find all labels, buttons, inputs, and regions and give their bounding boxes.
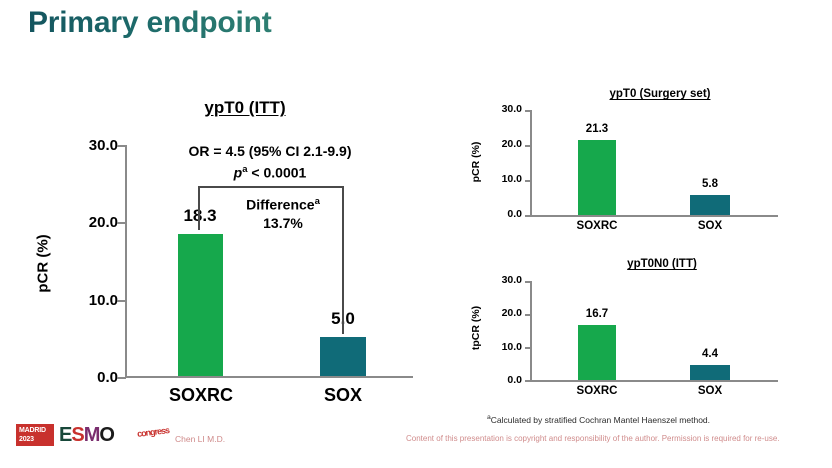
chart-top-right-category-sox: SOX (673, 220, 747, 232)
chart-top-right-value-sox: 5.8 (673, 178, 747, 190)
chart-bottom-right-value-soxrc: 16.7 (560, 308, 634, 320)
slide-canvas: Primary endpoint ypT0 (ITT) pCR (%) 30.0… (0, 0, 832, 468)
chart-top-right-tick-10 (525, 180, 531, 182)
difference-bracket-top (198, 186, 344, 188)
chart-top-right-bar-sox (690, 195, 730, 215)
chart-bottom-right-ytick-20: 20.0 (480, 307, 522, 319)
main-chart-x-axis (125, 376, 413, 378)
chart-bottom-right-x-axis (530, 380, 778, 382)
chart-top-right-bar-soxrc (578, 140, 616, 215)
esmo-letter-e: E (59, 424, 71, 446)
main-chart-tick-30 (117, 145, 126, 147)
chart-bottom-right-category-soxrc: SOXRC (560, 385, 634, 397)
chart-bottom-right-bar-sox (690, 365, 730, 380)
chart-bottom-right-y-axis (530, 281, 532, 381)
esmo-wordmark: ESMOcongress (59, 424, 114, 446)
main-chart-tick-0 (117, 377, 126, 379)
esmo-letter-o: O (99, 424, 114, 446)
main-chart-tick-10 (117, 300, 126, 302)
presenter-name: Chen LI M.D. (175, 434, 225, 444)
main-chart-ytick-10: 10.0 (58, 292, 118, 309)
chart-top-right-x-axis (530, 215, 778, 217)
chart-bottom-right-bar-soxrc (578, 325, 616, 380)
difference-bracket-left-arm (198, 186, 200, 230)
page-title: Primary endpoint (28, 6, 272, 40)
badge-line-year: 2023 (19, 435, 54, 444)
copyright-notice: Content of this presentation is copyrigh… (406, 434, 780, 443)
difference-superscript: a (315, 196, 320, 207)
congress-wordmark: congress (136, 419, 170, 445)
chart-top-right-tick-0 (525, 215, 531, 217)
footnote: aCalculated by stratified Cochran Mantel… (487, 414, 710, 425)
esmo-letter-m: M (84, 424, 100, 446)
main-chart-title: ypT0 (ITT) (175, 98, 315, 118)
chart-top-right-ytick-0: 0.0 (480, 208, 522, 220)
badge-line-city: MADRID (19, 426, 54, 435)
main-chart-ytick-30: 30.0 (58, 137, 118, 154)
main-chart-or-text: OR = 4.5 (95% CI 2.1-9.9) (150, 143, 390, 159)
main-chart-y-axis-title: pCR (%) (35, 219, 52, 309)
chart-bottom-right-value-sox: 4.4 (673, 348, 747, 360)
chart-top-right-ytick-10: 10.0 (480, 173, 522, 185)
chart-bottom-right-ytick-30: 30.0 (480, 274, 522, 286)
chart-bottom-right-ytick-10: 10.0 (480, 341, 522, 353)
chart-top-right-value-soxrc: 21.3 (560, 123, 634, 135)
main-chart-bar-soxrc (178, 234, 223, 376)
madrid-2023-badge: MADRID 2023 (16, 424, 54, 446)
main-chart-pvalue-text: pa < 0.0001 (150, 164, 390, 181)
chart-top-right-category-soxrc: SOXRC (560, 220, 634, 232)
chart-bottom-right-tick-0 (525, 380, 531, 382)
chart-bottom-right-ytick-0: 0.0 (480, 374, 522, 386)
main-chart-bar-sox (320, 337, 366, 376)
p-symbol: p (234, 165, 243, 181)
chart-bottom-right-tick-30 (525, 281, 531, 283)
chart-bottom-right-title: ypT0N0 (ITT) (562, 258, 762, 270)
main-chart-ytick-20: 20.0 (58, 214, 118, 231)
difference-value: 13.7% (218, 215, 348, 231)
main-chart-category-sox: SOX (300, 385, 386, 406)
esmo-letter-s: S (71, 424, 83, 446)
chart-top-right-y-axis (530, 110, 532, 216)
chart-top-right-title: ypT0 (Surgery set) (560, 88, 760, 100)
main-chart-category-soxrc: SOXRC (155, 385, 247, 406)
chart-bottom-right-category-sox: SOX (673, 385, 747, 397)
difference-label-text: Difference (246, 197, 314, 213)
footnote-text: Calculated by stratified Cochran Mantel … (491, 415, 710, 425)
difference-label: Differencea (218, 196, 348, 213)
esmo-congress-logo: MADRID 2023 ESMOcongress (16, 424, 114, 450)
p-value-rest: < 0.0001 (248, 165, 307, 181)
chart-bottom-right-tick-20 (525, 314, 531, 316)
chart-bottom-right-y-axis-title: tpCR (%) (470, 288, 482, 368)
main-chart-y-axis (125, 145, 127, 378)
chart-top-right-ytick-30: 30.0 (480, 103, 522, 115)
main-chart-tick-20 (117, 222, 126, 224)
main-chart-ytick-0: 0.0 (58, 369, 118, 386)
chart-top-right-tick-30 (525, 110, 531, 112)
chart-bottom-right-tick-10 (525, 347, 531, 349)
chart-top-right-ytick-20: 20.0 (480, 138, 522, 150)
chart-top-right-tick-20 (525, 145, 531, 147)
